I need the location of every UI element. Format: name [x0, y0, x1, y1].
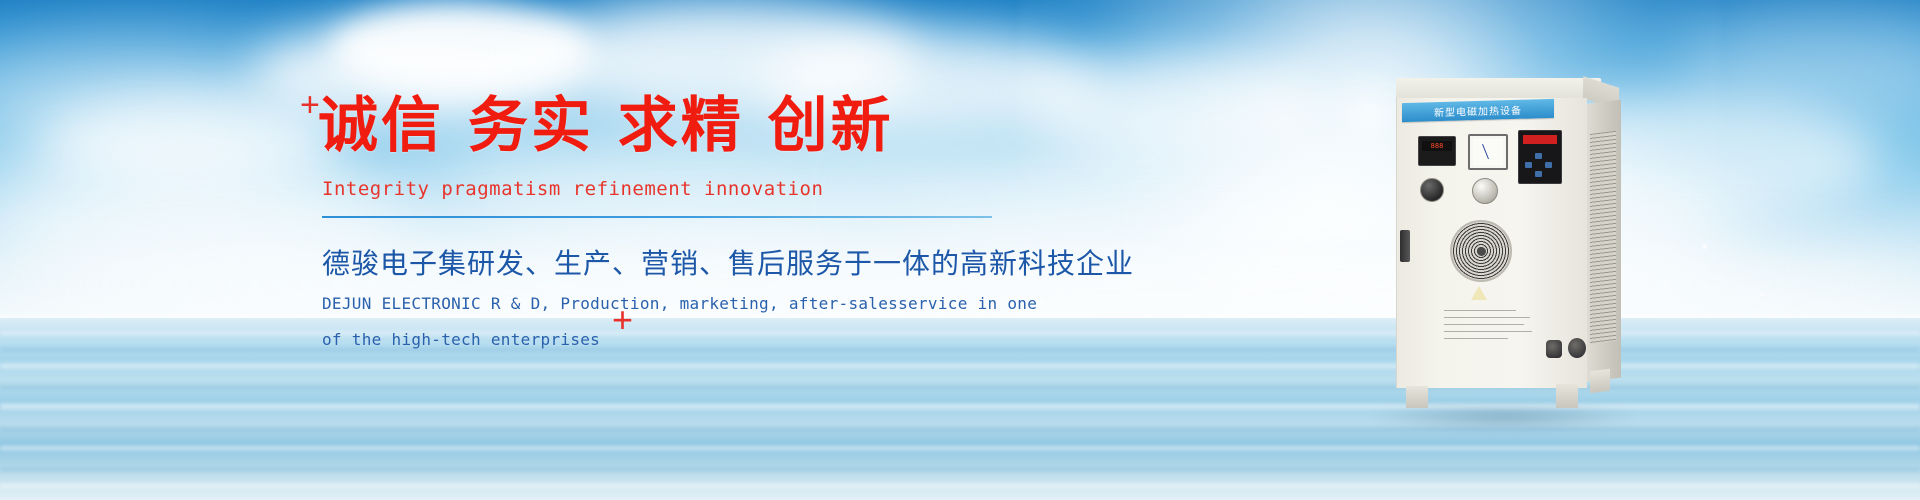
warning-triangle-icon	[1471, 286, 1487, 300]
banner-copy-block: 诚信 务实 求精 创新 Integrity pragmatism refinem…	[318, 96, 1038, 354]
plus-decoration-top: +	[300, 88, 320, 122]
water-sparkle	[1260, 258, 1265, 263]
water-highlight	[0, 484, 1920, 488]
power-knob[interactable]	[1472, 178, 1498, 204]
water-sparkle	[1040, 300, 1044, 304]
vfd-key[interactable]	[1545, 162, 1552, 168]
machine-leg	[1556, 384, 1578, 408]
cooling-fan	[1450, 220, 1512, 282]
water-highlight	[0, 446, 1920, 450]
water-sparkle	[1702, 244, 1707, 249]
promo-banner: + + 诚信 务实 求精 创新 Integrity pragmatism ref…	[0, 0, 1920, 500]
product-machine: 新型电磁加热设备 888	[1378, 78, 1628, 418]
power-outlet	[1546, 340, 1562, 358]
power-outlet	[1568, 338, 1586, 358]
vfd-keypad[interactable]	[1518, 130, 1562, 184]
ammeter-needle	[1482, 144, 1489, 159]
vfd-display	[1523, 135, 1557, 144]
banner-headline-en: Integrity pragmatism refinement innovati…	[322, 178, 1038, 200]
water-sparkle	[1324, 276, 1328, 280]
controller-digits: 888	[1422, 141, 1452, 151]
machine-vent	[1590, 131, 1616, 344]
divider-line	[322, 216, 992, 218]
cloud-shape	[1030, 55, 1330, 160]
banner-description-en-line2: of the high-tech enterprises	[322, 326, 1038, 354]
water-highlight	[0, 386, 1920, 389]
analog-ammeter	[1468, 134, 1508, 170]
banner-description-cn: 德骏电子集研发、生产、营销、售后服务于一体的高新科技企业	[322, 242, 1038, 282]
temperature-controller[interactable]: 888	[1418, 136, 1456, 166]
vfd-key[interactable]	[1535, 153, 1542, 159]
water-highlight	[0, 364, 1920, 368]
machine-leg	[1406, 386, 1428, 408]
vfd-key[interactable]	[1525, 162, 1532, 168]
banner-headline-cn: 诚信 务实 求精 创新	[318, 96, 1038, 156]
water-sparkle	[1760, 292, 1764, 296]
machine-spec-text	[1444, 310, 1534, 345]
machine-leg	[1590, 369, 1610, 393]
selector-knob[interactable]	[1420, 178, 1444, 202]
machine-handle[interactable]	[1400, 230, 1410, 262]
ammeter-face	[1473, 139, 1503, 165]
water-highlight	[0, 468, 1920, 471]
vfd-key[interactable]	[1535, 171, 1542, 177]
banner-description-en-line1: DEJUN ELECTRONIC R & D, Production, mark…	[322, 290, 1038, 318]
machine-top-panel	[1396, 78, 1601, 100]
